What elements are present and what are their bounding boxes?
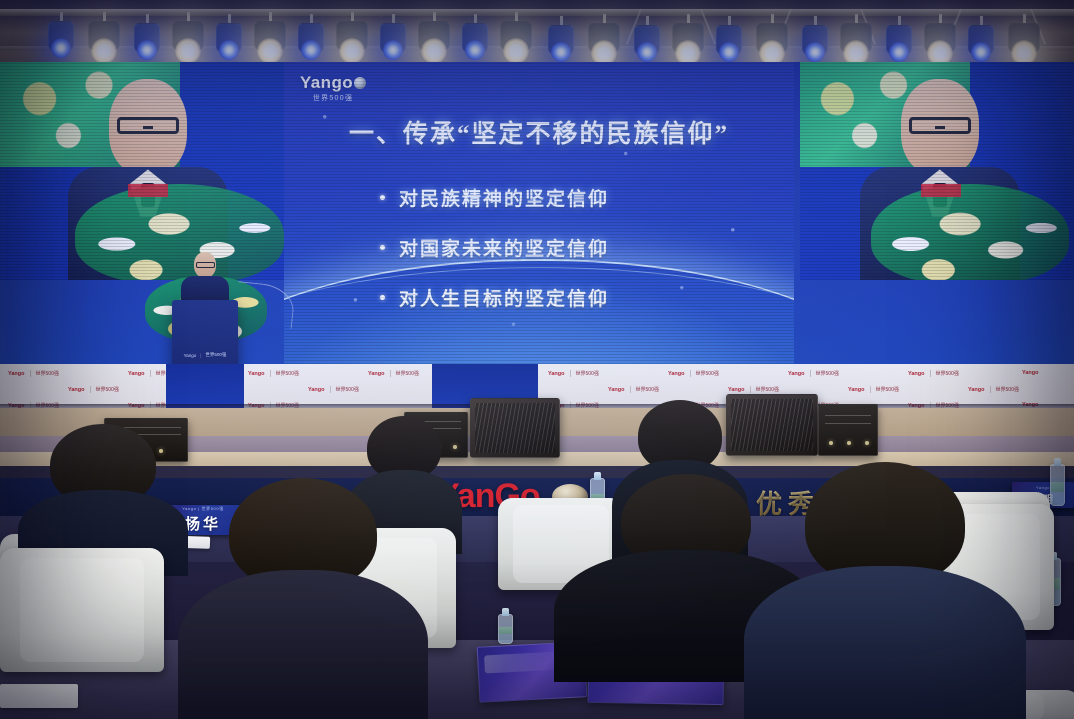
bullet-dot-icon	[380, 295, 385, 300]
stage-monitor-speaker	[470, 398, 560, 458]
slide-bullet-list: 对民族精神的坚定信仰 对国家未来的坚定信仰 对人生目标的坚定信仰	[380, 184, 720, 334]
slide-bullet-text: 对民族精神的坚定信仰	[399, 184, 609, 211]
water-bottle	[498, 614, 513, 644]
backdrop-logo-cell: Yango世界500强	[668, 370, 719, 377]
slide-bullet-item: 对国家未来的坚定信仰	[380, 234, 720, 261]
backdrop-logo-cell: Yango世界500强	[968, 386, 1019, 393]
slide-title: 一、传承“坚定不移的民族信仰”	[284, 114, 794, 150]
backdrop-logo-cell: Yango世界500强	[908, 370, 959, 377]
slide-bullet-text: 对国家未来的坚定信仰	[399, 234, 609, 261]
nameplate-logo: Yango	[1036, 485, 1050, 490]
conference-stage-scene: Yango 世界500强 一、传承“坚定不移的民族信仰” 对民族精神的坚定信仰 …	[0, 0, 1074, 719]
glasses-icon	[117, 117, 179, 134]
audience-person	[744, 462, 1026, 719]
screen-podium-badge	[921, 184, 961, 197]
podium-brand-text: Yango	[184, 353, 197, 358]
backdrop-logo-cell: Yango世界500强	[728, 386, 779, 393]
backdrop-logo-cell: Yango世界500强	[308, 386, 359, 393]
bullet-dot-icon	[380, 245, 385, 250]
right-led-screen	[800, 62, 1074, 280]
backdrop-logo-cell: Yango世界500强	[848, 386, 899, 393]
podium-brand-subtext: 世界500强	[205, 352, 226, 358]
backdrop-logo-cell: Yango世界500强	[8, 370, 59, 377]
stage-amplifier	[818, 404, 878, 456]
glasses-icon	[909, 117, 971, 134]
backdrop-logo-cell: Yango世界500强	[788, 370, 839, 377]
document-paper	[0, 684, 78, 708]
brand-wordmark: Yango	[300, 73, 353, 92]
screen-bouquet	[871, 184, 1068, 280]
slide-bullet-item: 对人生目标的坚定信仰	[380, 284, 720, 311]
backdrop-logo-cell: Yango世界500强	[608, 386, 659, 393]
slide-bullet-item: 对民族精神的坚定信仰	[380, 184, 720, 211]
brand-subtitle: 世界500强	[300, 93, 366, 103]
screen-podium-badge	[128, 184, 168, 197]
water-bottle	[1050, 464, 1065, 506]
truss-bar-lower	[0, 46, 1074, 51]
main-presentation-screen: Yango 世界500强 一、传承“坚定不移的民族信仰” 对民族精神的坚定信仰 …	[284, 62, 794, 367]
podium-logo: Yango | 世界500强	[178, 352, 232, 358]
backdrop-logo-cell: Yango世界500强	[368, 370, 419, 377]
glasses-icon	[196, 262, 215, 268]
slide-bullet-text: 对人生目标的坚定信仰	[399, 284, 609, 311]
bullet-dot-icon	[380, 195, 385, 200]
slide-brand-logo: Yango 世界500强	[300, 74, 366, 103]
backdrop-logo-cell: Yango世界500强	[68, 386, 119, 393]
audience-person	[18, 424, 188, 564]
left-led-screen	[0, 62, 290, 280]
globe-icon	[354, 77, 366, 89]
backdrop-logo-cell: Yango世界500强	[248, 370, 299, 377]
audience-person	[178, 478, 428, 719]
backdrop-logo-cell: Yango	[1022, 370, 1039, 376]
backdrop-logo-cell: Yango世界500强	[548, 370, 599, 377]
audience-chair	[0, 548, 164, 672]
truss-bar-upper	[0, 9, 1074, 16]
